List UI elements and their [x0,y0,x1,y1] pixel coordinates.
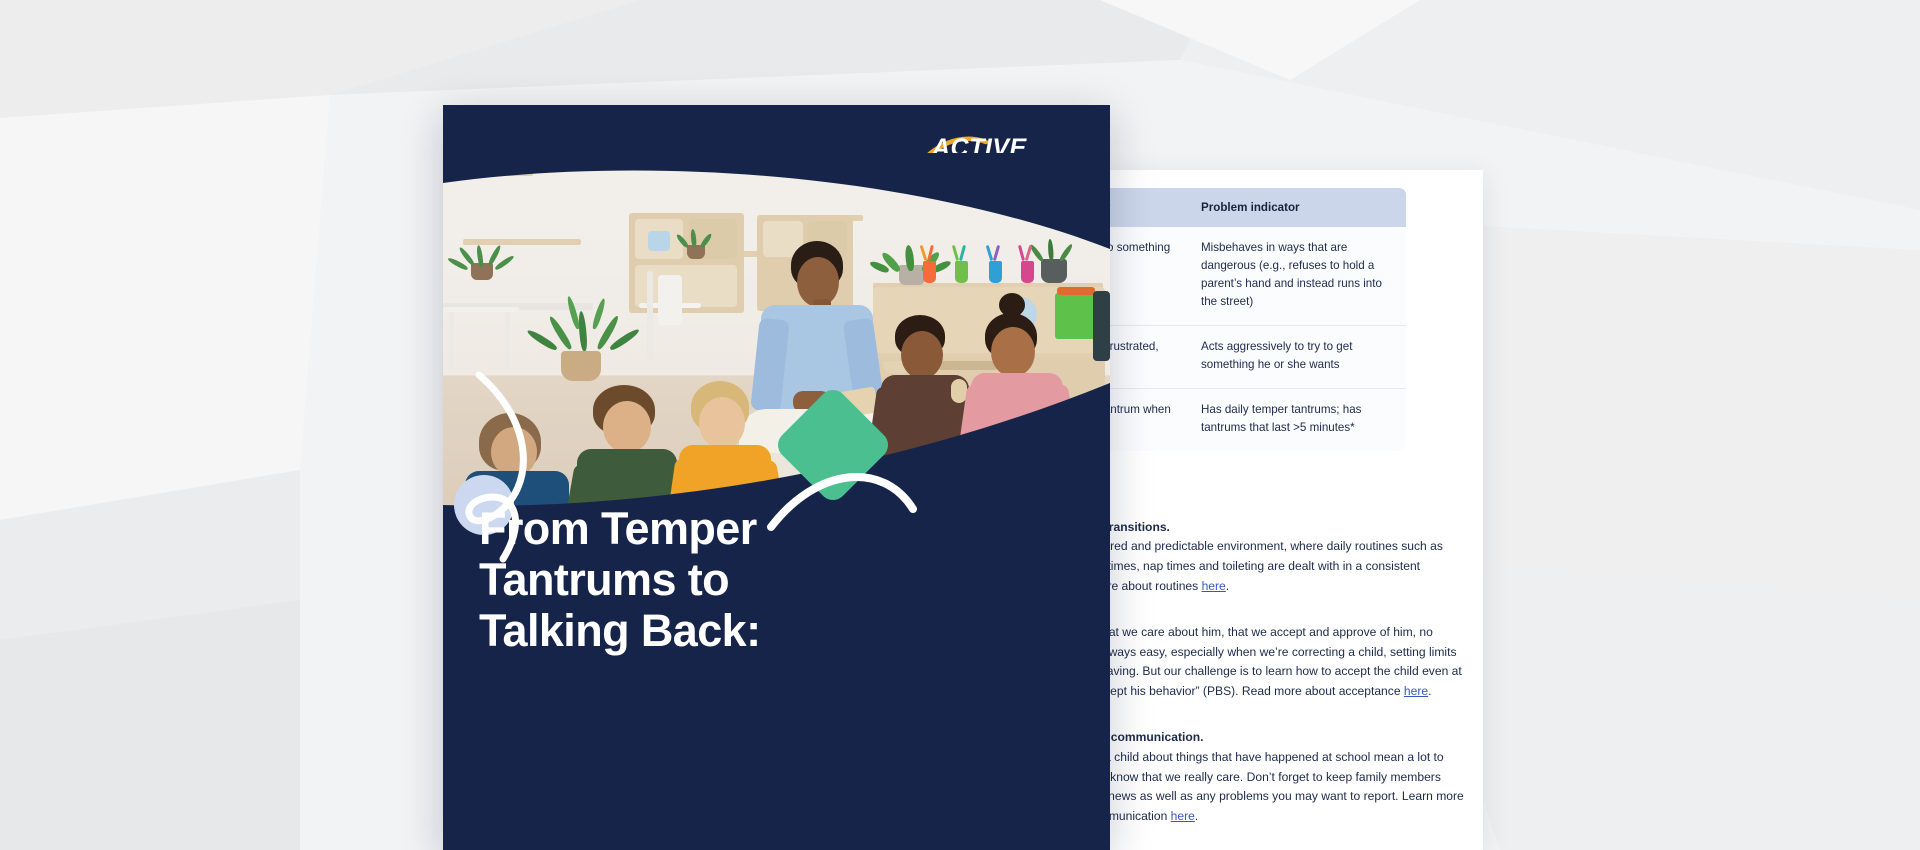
cell-problem: Misbehaves in ways that are dangerous (e… [1187,227,1406,325]
table-row: Acts aggressively when frustrated, angry… [1110,325,1406,388]
section-heading: Have routines for daily transitions. [1110,518,1468,538]
title-line-3: Talking Back: [479,606,1079,657]
section-spacer [1110,701,1468,728]
navy-top-curve [443,153,1110,333]
section-body: Daily conversations with a child about t… [1110,748,1468,826]
cell-problem: Acts aggressively to try to get somethin… [1187,325,1406,388]
acceptance-link[interactable]: here [1404,684,1428,698]
back-page-content: Normative misbehavior Problem indicator … [1110,188,1468,826]
section-spacer [1110,596,1468,623]
article-body: Have routines for daily transitions. “Ch… [1110,518,1468,827]
cell-normative: Acts aggressively when frustrated, angry… [1110,325,1187,388]
communication-link[interactable]: here [1171,809,1195,823]
table-source-note: Source: CDC, 2014 [1110,464,1468,476]
routines-link[interactable]: here [1202,579,1226,593]
cell-normative: Loses temper or has a tantrum when tired… [1110,388,1187,450]
cell-normative: Says “no” when told to do something [1110,227,1187,325]
cell-problem: Has daily temper tantrums; has tantrums … [1187,388,1406,450]
title-line-1: From Temper [479,504,1079,555]
table-header-problem: Problem indicator [1187,188,1406,227]
misbehavior-table: Normative misbehavior Problem indicator … [1110,188,1406,451]
table-header-normative: Normative misbehavior [1110,188,1187,227]
table-row: Says “no” when told to do something Misb… [1110,227,1406,325]
document-back-page: Normative misbehavior Problem indicator … [1110,170,1483,850]
section-body: “Children thrive in an ordered and predi… [1110,537,1468,596]
title-line-2: Tantrums to [479,555,1079,606]
table-row: Loses temper or has a tantrum when tired… [1110,388,1406,450]
document-cover-page: ACTIVE network [443,105,1110,850]
section-body: “Children need to know that we care abou… [1110,623,1468,701]
page-title: From Temper Tantrums to Talking Back: [479,504,1079,657]
table-header-row: Normative misbehavior Problem indicator [1110,188,1406,227]
section-heading: Keep up an open line of communication. [1110,728,1468,748]
